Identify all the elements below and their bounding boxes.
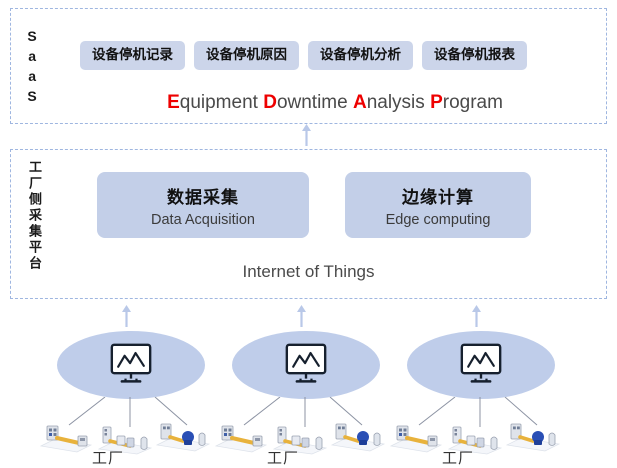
title-rest-downtime: owntime [277, 92, 348, 113]
title-rest-analysis: nalysis [367, 92, 425, 113]
saas-button-downtime-report[interactable]: 设备停机报表 [422, 41, 527, 70]
factory-caption-3: 工厂 [363, 447, 553, 468]
saas-button-row: 设备停机记录 设备停机原因 设备停机分析 设备停机报表 [80, 41, 527, 70]
factory-group-3: 工厂 [385, 305, 575, 455]
title-rest-equipment: quipment [180, 92, 258, 113]
title-rest-program: rogram [443, 92, 503, 113]
factory-caption-1: 工厂 [13, 447, 203, 468]
edge-computing-label-cn: 边缘计算 [345, 183, 531, 208]
arrow-up-icon-to-saas [301, 124, 312, 146]
factory-group-1: 工厂 [35, 305, 225, 455]
monitor-chart-icon-2 [284, 343, 328, 385]
arrow-up-icon-factory-2 [296, 305, 307, 327]
factory-caption-2: 工厂 [188, 447, 378, 468]
data-acquisition-box[interactable]: 数据采集 Data Acquisition [97, 172, 309, 238]
saas-button-downtime-analysis[interactable]: 设备停机分析 [308, 41, 413, 70]
edge-computing-label-en: Edge computing [345, 212, 531, 228]
monitor-chart-icon-3 [459, 343, 503, 385]
data-acquisition-label-en: Data Acquisition [97, 212, 309, 228]
saas-side-label: SaaS [24, 28, 40, 108]
edge-computing-box[interactable]: 边缘计算 Edge computing [345, 172, 531, 238]
saas-button-downtime-reason[interactable]: 设备停机原因 [194, 41, 299, 70]
arrow-up-icon-factory-1 [121, 305, 132, 327]
title-cap-p: P [430, 92, 443, 113]
monitor-chart-icon-1 [109, 343, 153, 385]
factory-group-2: 工厂 [210, 305, 400, 455]
program-title: Equipment Downtime Analysis Program [80, 92, 590, 114]
title-cap-e: E [167, 92, 180, 113]
internet-of-things-label: Internet of Things [10, 262, 607, 282]
saas-button-downtime-record[interactable]: 设备停机记录 [80, 41, 185, 70]
arrow-up-icon-factory-3 [471, 305, 482, 327]
title-cap-a: A [353, 92, 367, 113]
data-acquisition-label-cn: 数据采集 [97, 183, 309, 208]
title-cap-d: D [263, 92, 277, 113]
plant-side-label: 工厂侧采集平台 [26, 160, 41, 272]
